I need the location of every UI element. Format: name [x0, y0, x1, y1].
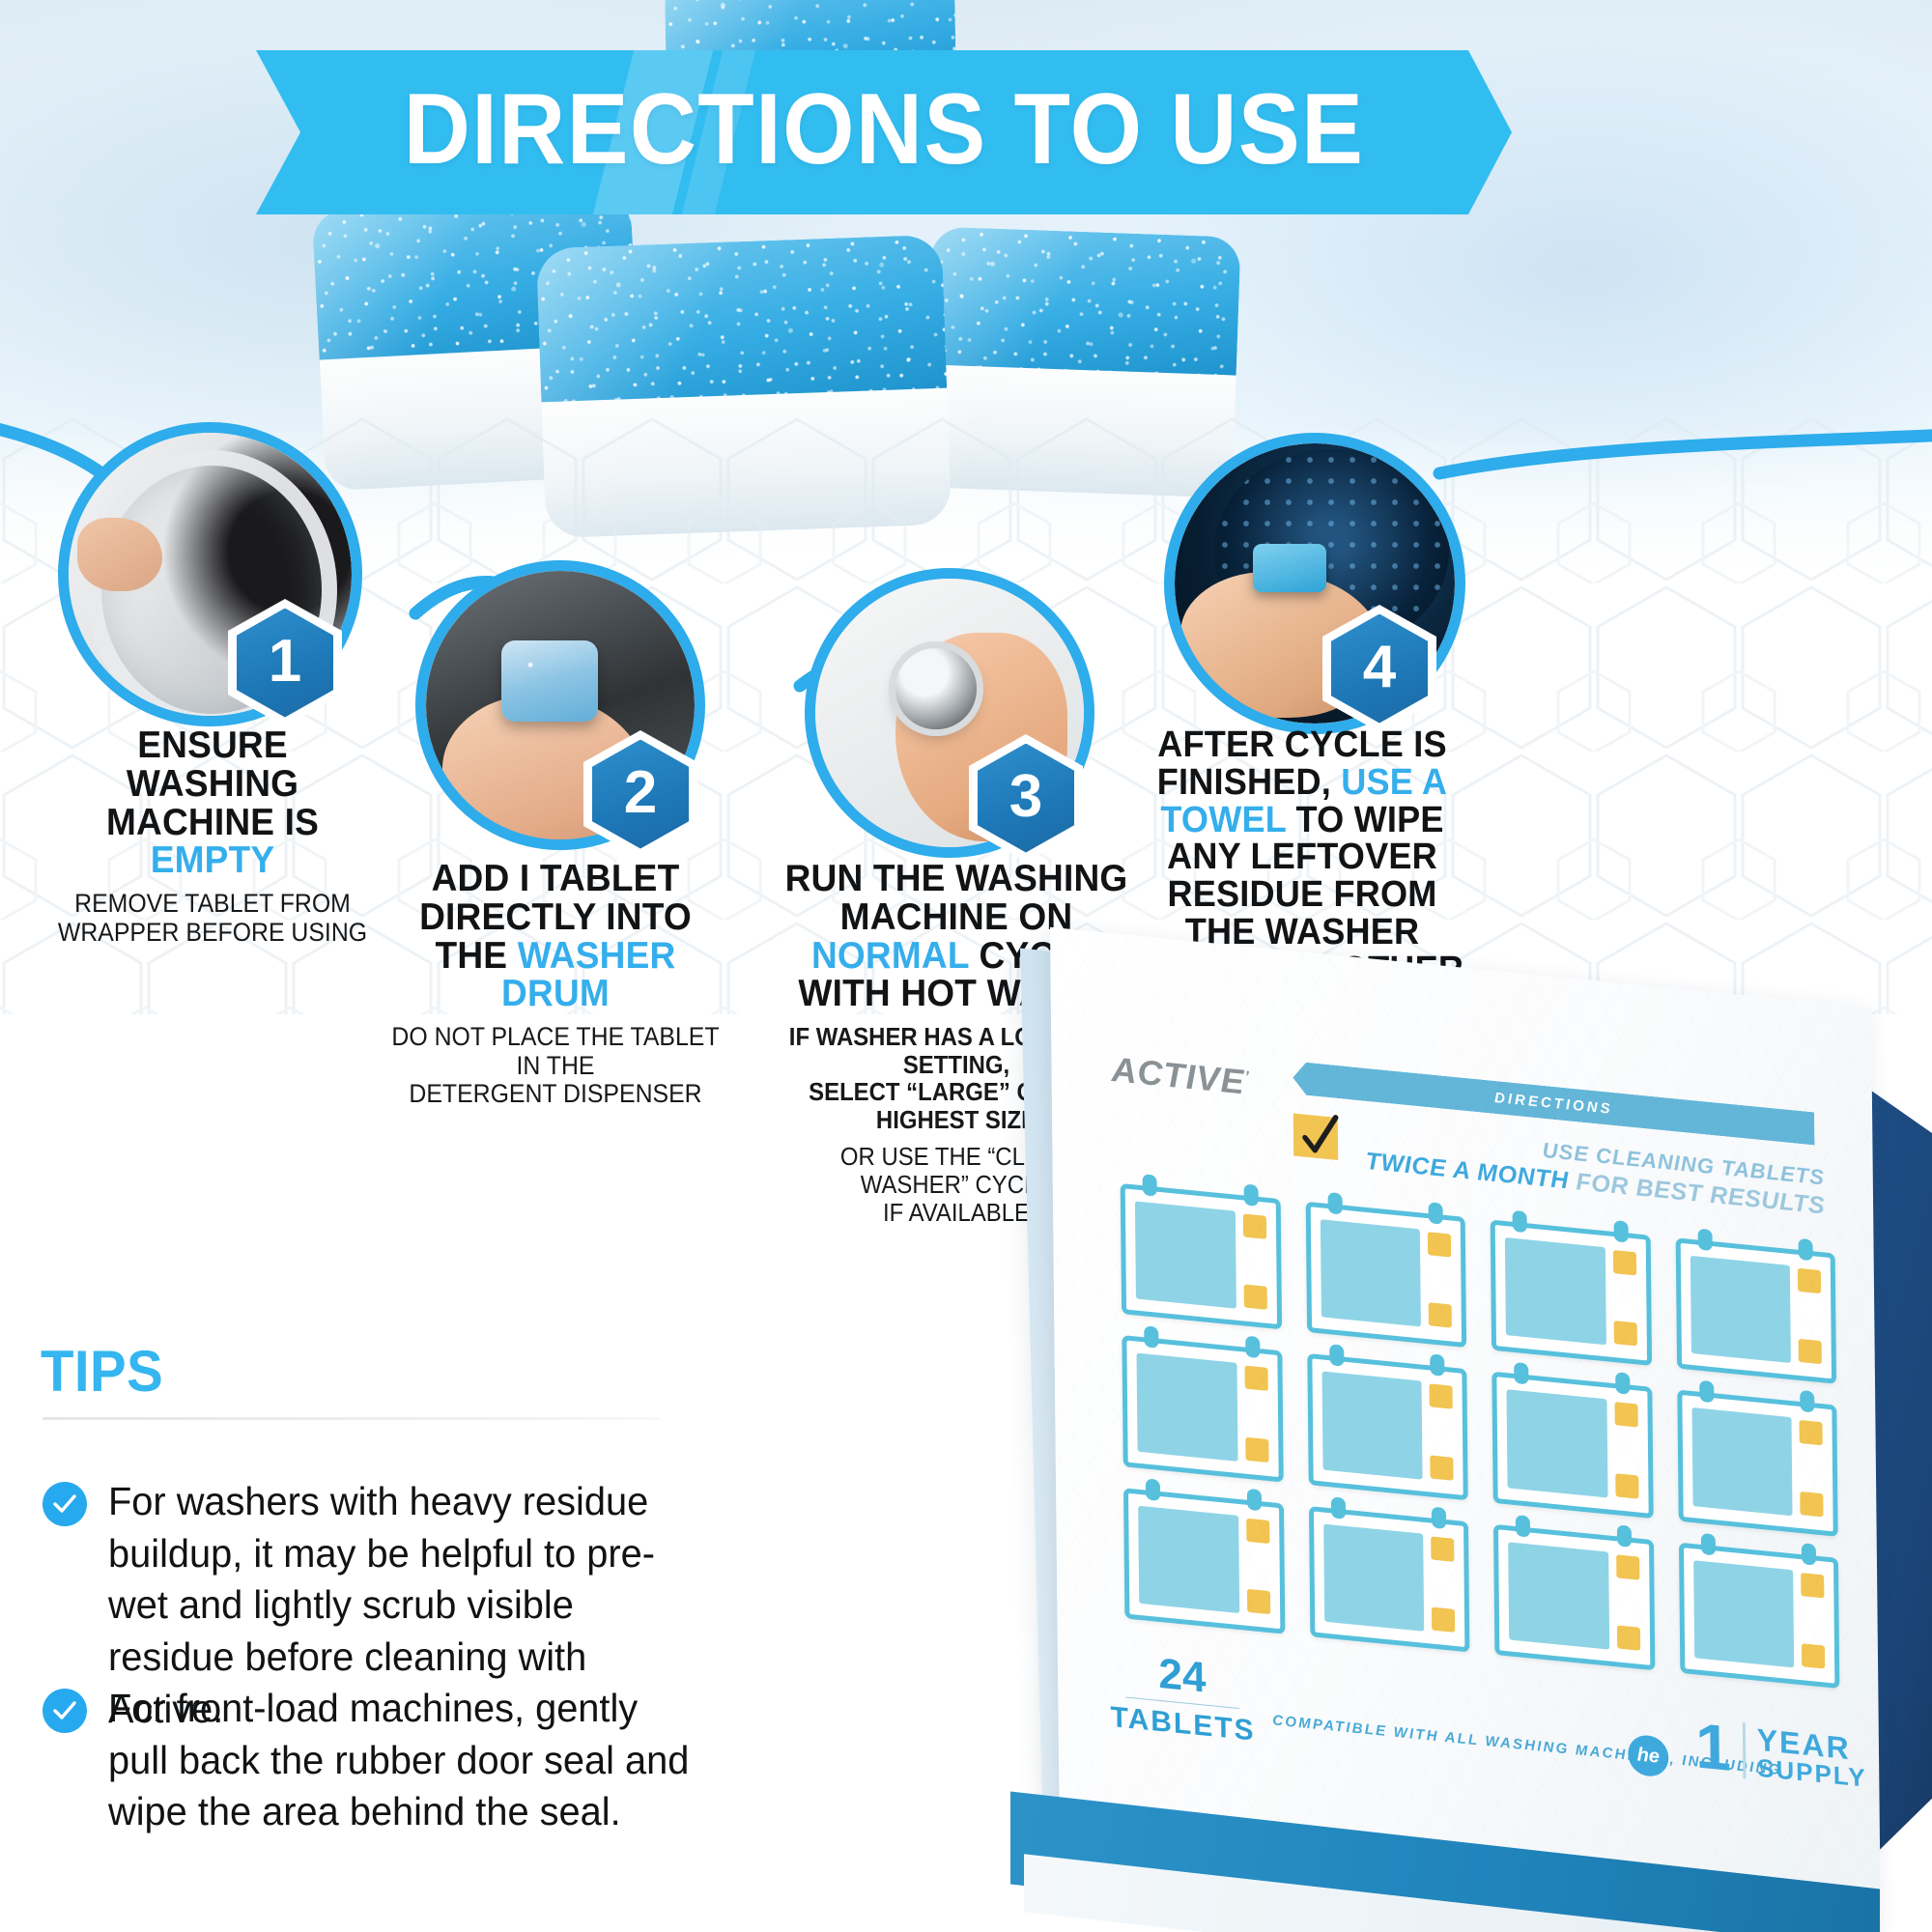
- header-banner: DIRECTIONS TO USE: [256, 50, 1512, 214]
- step-1-subtext-line-1: REMOVE TABLET FROM: [57, 890, 368, 919]
- tip-item-2: For front-load machines, gently pull bac…: [43, 1683, 709, 1838]
- step-2-heading: ADD I TABLET DIRECTLY INTO THE WASHER DR…: [385, 860, 725, 1013]
- tips-divider: [43, 1417, 661, 1420]
- supply-number: 1: [1695, 1717, 1731, 1777]
- step-1-text: ENSURE WASHING MACHINE IS EMPTY REMOVE T…: [43, 726, 382, 947]
- tablet-block-front: [536, 235, 952, 538]
- infographic-canvas: DIRECTIONS TO USE 1 ENSURE WASHING MACHI…: [0, 0, 1932, 1932]
- calendar-icon: [1677, 1390, 1838, 1537]
- page-title: DIRECTIONS TO USE: [306, 50, 1462, 214]
- calendar-icon: [1123, 1488, 1285, 1634]
- calendar-icon: [1678, 1542, 1839, 1689]
- step-2-number: 2: [624, 763, 657, 823]
- he-logo-icon: he: [1628, 1734, 1668, 1778]
- step-1-number: 1: [269, 632, 301, 692]
- tablet-count: 24 TABLETS: [1110, 1650, 1256, 1747]
- calendar-icon: [1492, 1372, 1653, 1519]
- tip-2-text: For front-load machines, gently pull bac…: [108, 1683, 691, 1838]
- product-box: ACTIVE’ DIRECTIONS USE CLEANING TABLETS …: [985, 966, 1932, 1932]
- step-3-number: 3: [1009, 767, 1042, 827]
- box-front-panel: ACTIVE’ DIRECTIONS USE CLEANING TABLETS …: [1050, 927, 1881, 1932]
- calendar-icon: [1491, 1220, 1652, 1367]
- calendar-icon: [1675, 1237, 1836, 1384]
- directions-label: DIRECTIONS: [1494, 1089, 1613, 1117]
- calendar-icon: [1305, 1202, 1466, 1349]
- calendar-icon: [1122, 1335, 1283, 1482]
- sponge-icon: [1253, 544, 1325, 591]
- step-2-text: ADD I TABLET DIRECTLY INTO THE WASHER DR…: [377, 860, 734, 1109]
- step-2-subtext-line-2: DETERGENT DISPENSER: [391, 1080, 720, 1109]
- step-1-heading: ENSURE WASHING MACHINE IS EMPTY: [52, 726, 374, 880]
- tablet-count-number: 24: [1110, 1650, 1255, 1702]
- calendar-icon: [1121, 1183, 1282, 1330]
- calendar-icon: [1308, 1506, 1469, 1653]
- yellow-check-icon: [1293, 1113, 1338, 1160]
- calendar-icon: [1493, 1524, 1655, 1671]
- tips-heading: TIPS: [41, 1338, 163, 1405]
- tablet-block-back-right: [923, 226, 1240, 497]
- calendar-grid: [1121, 1183, 1840, 1689]
- step-2-subtext-line-1: DO NOT PLACE THE TABLET IN THE: [391, 1023, 720, 1080]
- step-1-subtext-line-2: WRAPPER BEFORE USING: [57, 919, 368, 948]
- brand-logo: ACTIVE’: [1111, 1049, 1250, 1103]
- check-circle-icon: [43, 1482, 87, 1526]
- supply-callout: 1 YEAR SUPPLY: [1695, 1717, 1867, 1791]
- step-4-number: 4: [1363, 638, 1396, 697]
- check-circle-icon: [43, 1689, 87, 1733]
- calendar-icon: [1307, 1353, 1468, 1500]
